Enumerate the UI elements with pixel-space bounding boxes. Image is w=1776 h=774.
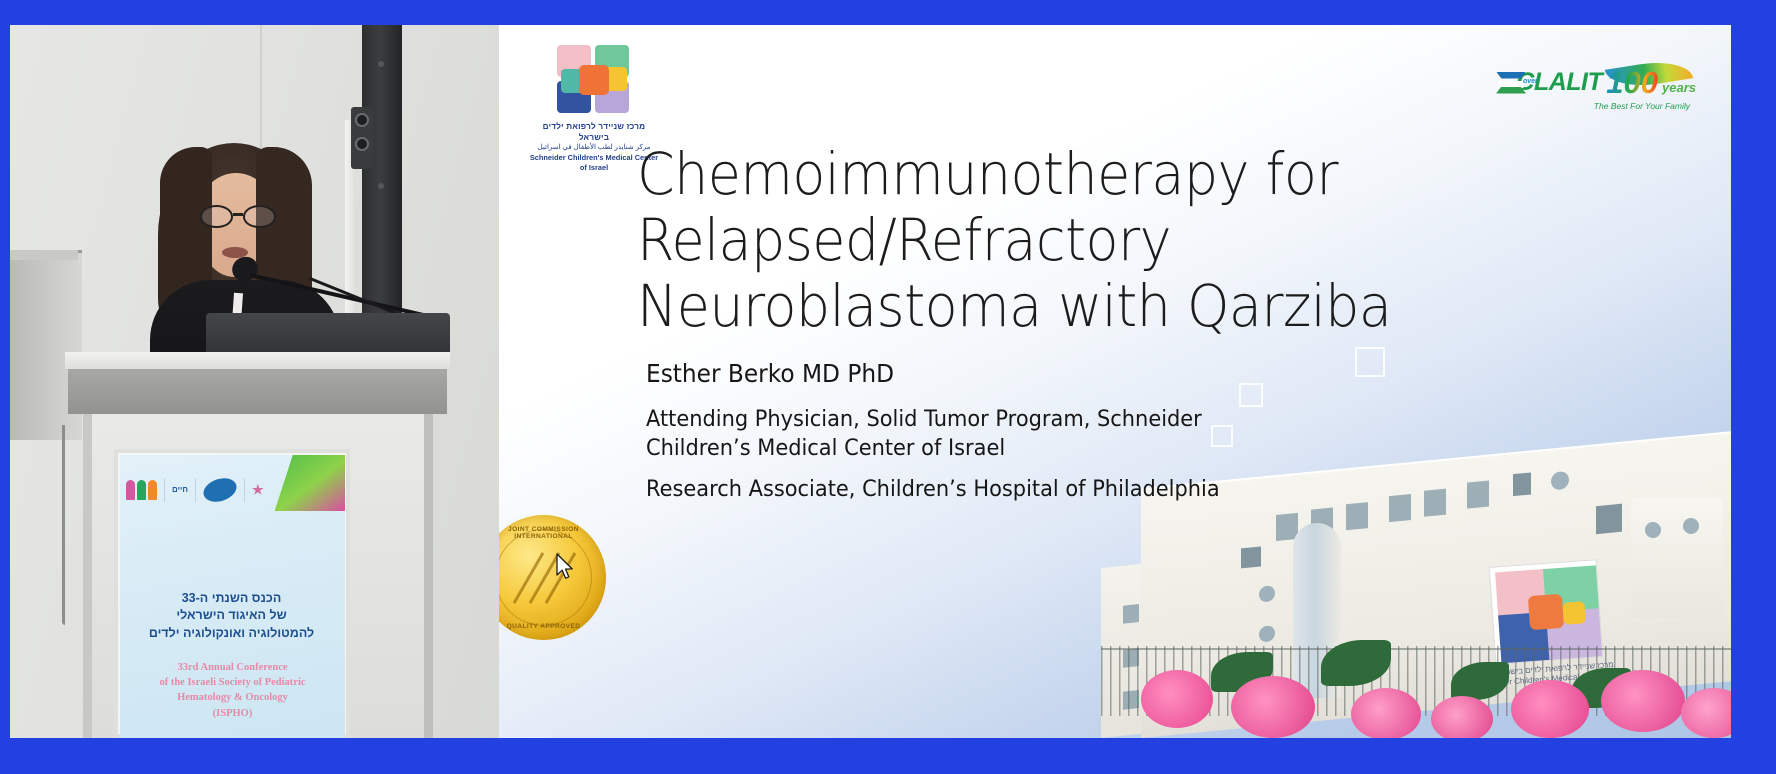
podium-band (68, 369, 447, 414)
pole-knob-upper (355, 113, 369, 127)
clalit-tagline: The Best For Your Family (1496, 101, 1696, 111)
poster-logo-chaim: חיים (172, 476, 188, 504)
conference-poster: חיים ★ הכנס השנתי ה-33 של האיגוד הישראלי… (120, 455, 345, 738)
presenter-name: Esther Berko MD PhD (646, 359, 894, 388)
video-stage: חיים ★ הכנס השנתי ה-33 של האיגוד הישראלי… (10, 25, 1731, 738)
decor-square-1 (1355, 347, 1385, 377)
mouse-pointer (555, 553, 575, 581)
building-corner-tower (1631, 498, 1723, 618)
flower-bed (1101, 618, 1731, 738)
podium-cable (62, 425, 65, 625)
puzzle-icon (555, 43, 633, 117)
presenter-affiliation-primary: Attending Physician, Solid Tumor Program… (646, 405, 1241, 463)
pole-screw-1 (378, 61, 384, 67)
poster-logo-row: חיים ★ (126, 473, 338, 507)
speaker-glasses (200, 205, 276, 228)
jci-top-text: JOINT COMMISSION INTERNATIONAL (499, 526, 606, 540)
clalit-logo: CLALIT 100 over years The Best For Your … (1496, 67, 1696, 125)
poster-logo-blue-oval (203, 476, 237, 504)
slide-title: Chemoimmunotherapy for Relapsed/Refracto… (637, 141, 1530, 339)
poster-hebrew-title: הכנס השנתי ה-33 של האיגוד הישראלי להמטול… (124, 590, 339, 642)
screen-frame: חיים ★ הכנס השנתי ה-33 של האיגוד הישראלי… (0, 0, 1776, 774)
decor-square-2 (1239, 383, 1263, 407)
poster-logo-pink: ★ (252, 476, 264, 504)
side-cabinet-top (10, 250, 78, 260)
pole-screw-2 (378, 183, 384, 189)
presenter-affiliation-secondary: Research Associate, Children’s Hospital … (646, 475, 1316, 504)
schneider-logo: מרכז שניידר לרפואת ילדים בישראל مركز شنا… (529, 43, 659, 153)
clalit-100: 100 (1606, 67, 1658, 98)
podium-top (65, 352, 450, 369)
shared-slide[interactable]: מרכז שניידר לרפואת ילדים בישראל Schneide… (499, 25, 1731, 738)
speaker-video-feed[interactable]: חיים ★ הכנס השנתי ה-33 של האיגוד הישראלי… (10, 25, 499, 738)
clalit-over-label: over (1523, 78, 1538, 85)
poster-english-title: 33rd Annual Conference of the Israeli So… (124, 660, 341, 721)
clalit-mark-icon (1496, 70, 1512, 96)
poster-logo-icpic (126, 476, 157, 504)
pole-knob-lower (355, 137, 369, 151)
jci-bottom-text: QUALITY APPROVED (499, 623, 606, 630)
